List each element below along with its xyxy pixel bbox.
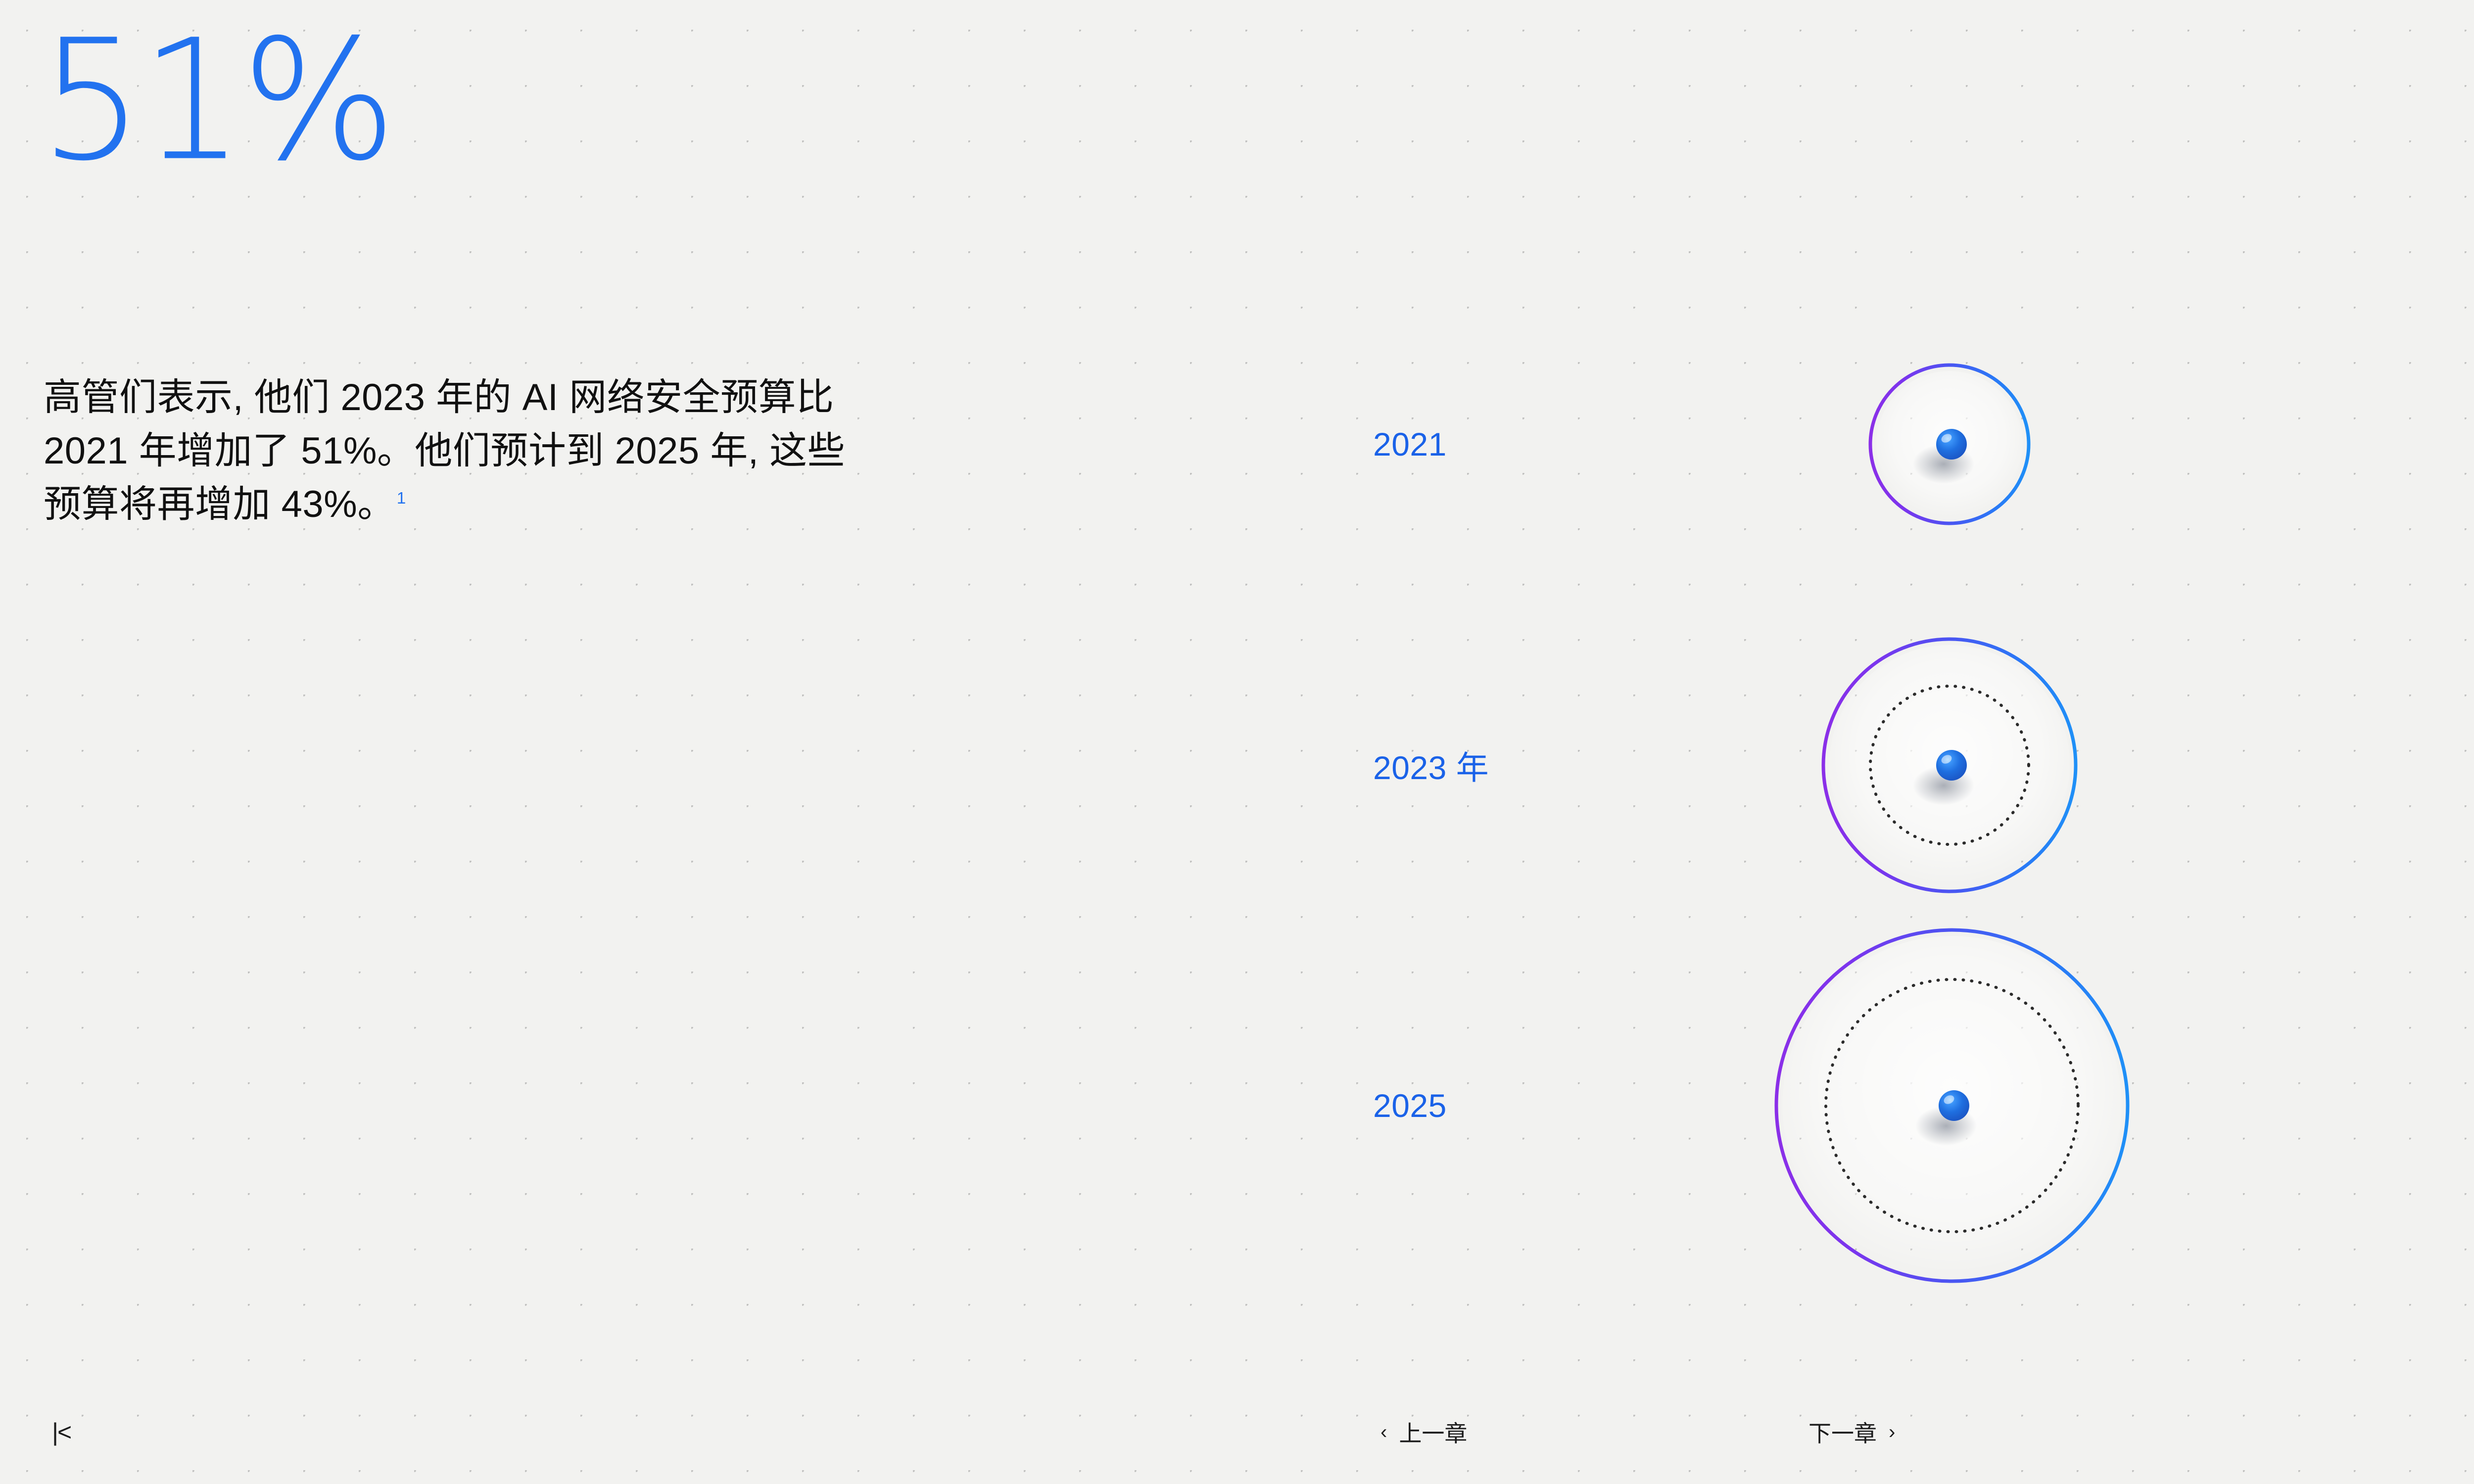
previous-chapter-label: 上一章	[1399, 1416, 1467, 1448]
bubble-label-2023: 2023 年	[1373, 742, 1489, 789]
skip-to-first-icon: |<	[52, 1418, 71, 1446]
bubble-ring-2025	[1776, 930, 2128, 1281]
sphere-shadow-2025	[1915, 1106, 1977, 1146]
sphere-marker-2021	[1936, 429, 1967, 460]
page-headline-statistic: 51%	[40, 17, 393, 184]
bubble-group-2021	[1512, 365, 2029, 523]
previous-chapter-button[interactable]: ‹ 上一章	[1380, 1416, 1467, 1448]
sphere-shadow-2023	[1913, 766, 1974, 805]
bubble-label-2025: 2025	[1373, 1087, 1447, 1124]
chevron-left-icon: ‹	[1380, 1421, 1387, 1443]
bubble-chart: 2021 2023 年 2025	[0, 0, 2474, 1484]
next-chapter-button[interactable]: 下一章 ›	[1808, 1416, 1895, 1448]
sphere-marker-2023	[1936, 750, 1967, 781]
slide-footer: |< ‹ 上一章 下一章 › 8	[0, 1380, 2474, 1484]
skip-to-first-button[interactable]: |<	[52, 1418, 71, 1446]
next-chapter-label: 下一章	[1808, 1416, 1877, 1448]
bubble-ring-2023	[1823, 639, 2076, 891]
bubble-group-2025	[1512, 930, 2128, 1281]
bubble-fill-2025	[1782, 936, 2122, 1275]
sphere-highlight-2021	[1940, 432, 1953, 444]
bubble-label-2021: 2021	[1373, 425, 1447, 463]
body-paragraph: 高管们表示, 他们 2023 年的 AI 网络安全预算比 2021 年增加了 5…	[44, 371, 875, 531]
sphere-highlight-2023	[1940, 753, 1953, 765]
footnote-marker: 1	[397, 489, 406, 508]
slide-canvas: 51% 高管们表示, 他们 2023 年的 AI 网络安全预算比 2021 年增…	[0, 0, 2474, 1484]
body-paragraph-text: 高管们表示, 他们 2023 年的 AI 网络安全预算比 2021 年增加了 5…	[44, 376, 845, 525]
bubble-ring-2021	[1870, 365, 2029, 523]
sphere-marker-2025	[1939, 1090, 1969, 1121]
sphere-shadow-2021	[1913, 444, 1974, 484]
bubble-group-2023	[1512, 639, 2076, 891]
sphere-highlight-2025	[1943, 1094, 1956, 1106]
bubble-inner-dotted-2023	[1870, 686, 2029, 844]
bubble-inner-dotted-2025	[1826, 979, 2078, 1232]
bubble-fill-2021	[1876, 371, 2023, 517]
bubble-fill-2023	[1829, 645, 2070, 885]
chevron-right-icon: ›	[1889, 1421, 1895, 1443]
